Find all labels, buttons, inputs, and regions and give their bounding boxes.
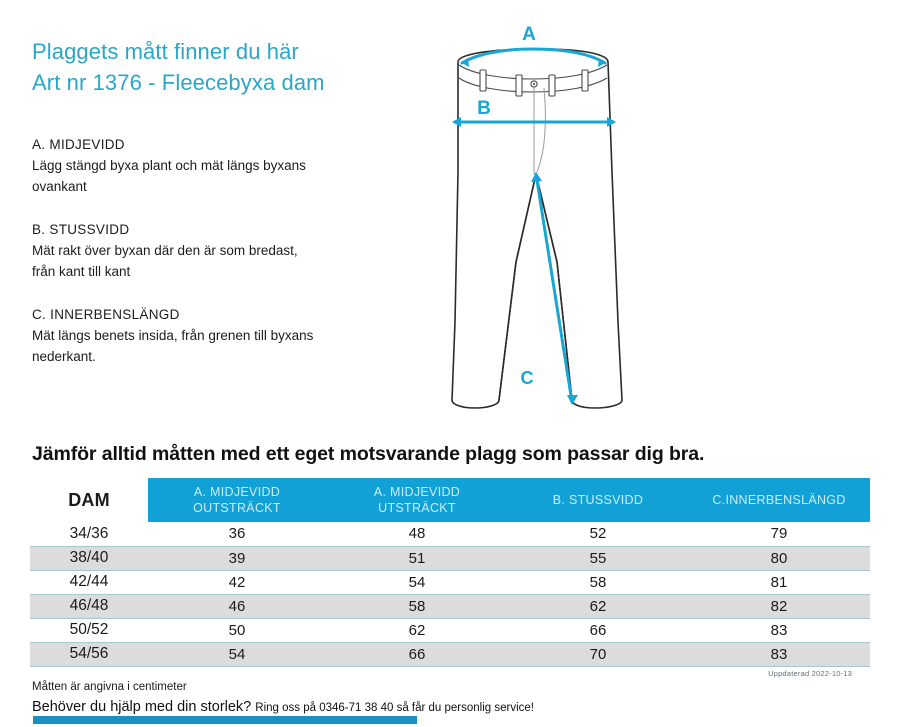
diagram-label-c: C xyxy=(521,368,534,388)
cell-waist-relaxed: 46 xyxy=(148,594,326,618)
table-row: 34/36 36 48 52 79 xyxy=(30,522,870,546)
table-row: 54/56 54 66 70 83 xyxy=(30,642,870,666)
column-header-waist-relaxed: A. MIDJEVIDD OUTSTRÄCKT xyxy=(148,478,326,522)
help-phone-text: Ring oss på 0346-71 38 40 så får du pers… xyxy=(255,702,534,714)
cell-hip: 58 xyxy=(508,570,688,594)
size-chart-body: 34/36 36 48 52 79 38/40 39 51 55 80 42/4… xyxy=(30,522,870,666)
instruction-block-b: B. STUSSVIDD Mät rakt över byxan där den… xyxy=(32,219,432,282)
column-header-size: DAM xyxy=(30,478,148,522)
instruction-heading-b: B. STUSSVIDD xyxy=(32,219,432,240)
table-row: 42/44 42 54 58 81 xyxy=(30,570,870,594)
diagram-label-b: B xyxy=(477,98,491,119)
page-title-line-2: Art nr 1376 - Fleecebyxa dam xyxy=(32,67,452,98)
cell-inseam: 83 xyxy=(688,642,870,666)
cell-inseam: 81 xyxy=(688,570,870,594)
cell-hip: 52 xyxy=(508,522,688,546)
cell-size: 50/52 xyxy=(30,618,148,642)
updated-timestamp: Uppdaterad 2022-10-13 xyxy=(768,669,852,678)
instruction-heading-a: A. MIDJEVIDD xyxy=(32,134,432,155)
pants-measurement-diagram: A B C xyxy=(432,22,662,422)
column-header-waist-relaxed-line1: A. MIDJEVIDD xyxy=(194,485,280,499)
measure-arrow-b-right xyxy=(607,117,616,127)
page-title: Plaggets mått finner du här Art nr 1376 … xyxy=(32,36,452,98)
instruction-body-b: Mät rakt över byxan där den är som breda… xyxy=(32,240,432,282)
instruction-block-a: A. MIDJEVIDD Lägg stängd byxa plant och … xyxy=(32,134,432,197)
instruction-block-c: C. INNERBENSLÄNGD Mät längs benets insid… xyxy=(32,304,432,367)
instruction-body-a-line-2: ovankant xyxy=(32,176,432,197)
cell-size: 54/56 xyxy=(30,642,148,666)
table-row: 46/48 46 58 62 82 xyxy=(30,594,870,618)
instruction-body-a-line-1: Lägg stängd byxa plant och mät längs byx… xyxy=(32,155,432,176)
cell-inseam: 79 xyxy=(688,522,870,546)
cell-waist-stretched: 48 xyxy=(326,522,508,546)
cell-waist-stretched: 66 xyxy=(326,642,508,666)
cell-inseam: 82 xyxy=(688,594,870,618)
cell-waist-stretched: 62 xyxy=(326,618,508,642)
table-row: 38/40 39 51 55 80 xyxy=(30,546,870,570)
footer: Måtten är angivna i centimeter Behöver d… xyxy=(32,679,872,719)
measurement-instructions: A. MIDJEVIDD Lägg stängd byxa plant och … xyxy=(32,134,432,389)
cell-inseam: 83 xyxy=(688,618,870,642)
instruction-heading-c: C. INNERBENSLÄNGD xyxy=(32,304,432,325)
instruction-body-c-line-2: nederkant. xyxy=(32,346,432,367)
compare-headline: Jämför alltid måtten med ett eget motsva… xyxy=(32,443,704,466)
cell-waist-stretched: 54 xyxy=(326,570,508,594)
cell-hip: 62 xyxy=(508,594,688,618)
instruction-body-a: Lägg stängd byxa plant och mät längs byx… xyxy=(32,155,432,197)
instruction-body-b-line-2: från kant till kant xyxy=(32,261,432,282)
column-header-inseam: C.INNERBENSLÄNGD xyxy=(688,478,870,522)
size-chart-header: DAM A. MIDJEVIDD OUTSTRÄCKT A. MIDJEVIDD… xyxy=(30,478,870,522)
table-header-row: DAM A. MIDJEVIDD OUTSTRÄCKT A. MIDJEVIDD… xyxy=(30,478,870,522)
cell-hip: 66 xyxy=(508,618,688,642)
column-header-hip: B. STUSSVIDD xyxy=(508,478,688,522)
cell-size: 34/36 xyxy=(30,522,148,546)
table-row: 50/52 50 62 66 83 xyxy=(30,618,870,642)
diagram-label-a: A xyxy=(522,24,536,45)
help-lead: Behöver du hjälp med din storlek? xyxy=(32,699,251,715)
cell-hip: 55 xyxy=(508,546,688,570)
bottom-accent-bar xyxy=(33,716,417,724)
cell-waist-stretched: 58 xyxy=(326,594,508,618)
cell-hip: 70 xyxy=(508,642,688,666)
column-header-waist-stretched-line1: A. MIDJEVIDD xyxy=(374,485,460,499)
instruction-body-c: Mät längs benets insida, från grenen til… xyxy=(32,325,432,367)
unit-note: Måtten är angivna i centimeter xyxy=(32,679,872,696)
size-chart-table: DAM A. MIDJEVIDD OUTSTRÄCKT A. MIDJEVIDD… xyxy=(30,478,870,667)
column-header-waist-stretched-line2: UTSTRÄCKT xyxy=(326,500,508,516)
page-title-line-1: Plaggets mått finner du här xyxy=(32,36,452,67)
column-header-waist-stretched: A. MIDJEVIDD UTSTRÄCKT xyxy=(326,478,508,522)
cell-waist-relaxed: 50 xyxy=(148,618,326,642)
cell-waist-relaxed: 36 xyxy=(148,522,326,546)
instruction-body-b-line-1: Mät rakt över byxan där den är som breda… xyxy=(32,240,432,261)
cell-inseam: 80 xyxy=(688,546,870,570)
cell-size: 38/40 xyxy=(30,546,148,570)
cell-waist-relaxed: 54 xyxy=(148,642,326,666)
column-header-waist-relaxed-line2: OUTSTRÄCKT xyxy=(148,500,326,516)
instruction-body-c-line-1: Mät längs benets insida, från grenen til… xyxy=(32,325,432,346)
measure-arrow-b-left xyxy=(452,117,461,127)
cell-size: 46/48 xyxy=(30,594,148,618)
cell-waist-relaxed: 42 xyxy=(148,570,326,594)
cell-waist-stretched: 51 xyxy=(326,546,508,570)
cell-size: 42/44 xyxy=(30,570,148,594)
cell-waist-relaxed: 39 xyxy=(148,546,326,570)
